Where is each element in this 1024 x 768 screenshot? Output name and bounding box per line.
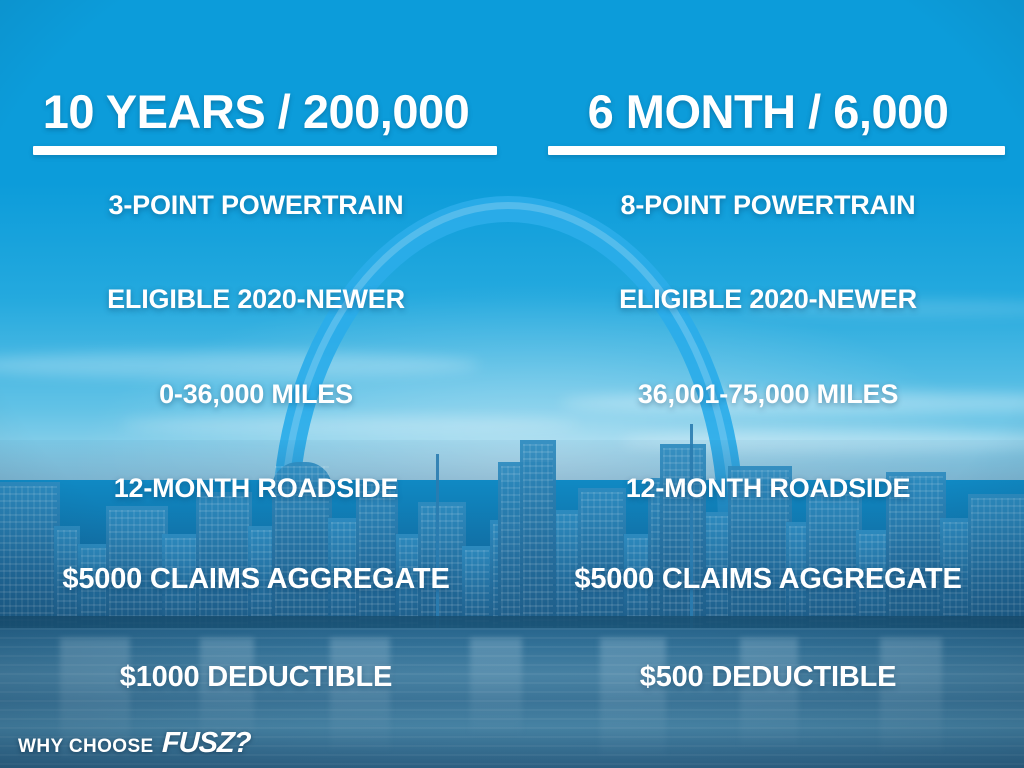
feature-item: $500 DEDUCTIBLE <box>512 663 1024 692</box>
fusz-brand-wordmark: FUSZ? <box>161 727 251 760</box>
feature-item: $1000 DEDUCTIBLE <box>0 663 512 692</box>
heading-underline-right <box>548 146 1005 155</box>
footer-logo: WHY CHOOSE FUSZ? <box>18 727 250 760</box>
plan-heading-left: 10 YEARS / 200,000 <box>0 88 512 135</box>
feature-item: 12-MONTH ROADSIDE <box>512 475 1024 502</box>
footer-prefix-text: WHY CHOOSE <box>18 736 154 758</box>
feature-item: 12-MONTH ROADSIDE <box>0 475 512 502</box>
feature-item: 36,001-75,000 MILES <box>512 381 1024 408</box>
feature-item: 8-POINT POWERTRAIN <box>512 192 1024 219</box>
plan-column-right: 6 MONTH / 6,000 8-POINT POWERTRAIN ELIGI… <box>512 0 1024 768</box>
plan-column-left: 10 YEARS / 200,000 3-POINT POWERTRAIN EL… <box>0 0 512 768</box>
feature-item: $5000 CLAIMS AGGREGATE <box>512 565 1024 594</box>
feature-item: $5000 CLAIMS AGGREGATE <box>0 565 512 594</box>
plan-heading-right: 6 MONTH / 6,000 <box>512 88 1024 135</box>
feature-item: ELIGIBLE 2020-NEWER <box>512 286 1024 313</box>
slide-content: 10 YEARS / 200,000 3-POINT POWERTRAIN EL… <box>0 0 1024 768</box>
feature-item: 0-36,000 MILES <box>0 381 512 408</box>
heading-underline-left <box>33 146 497 155</box>
slide-canvas: 10 YEARS / 200,000 3-POINT POWERTRAIN EL… <box>0 0 1024 768</box>
feature-item: ELIGIBLE 2020-NEWER <box>0 286 512 313</box>
feature-item: 3-POINT POWERTRAIN <box>0 192 512 219</box>
